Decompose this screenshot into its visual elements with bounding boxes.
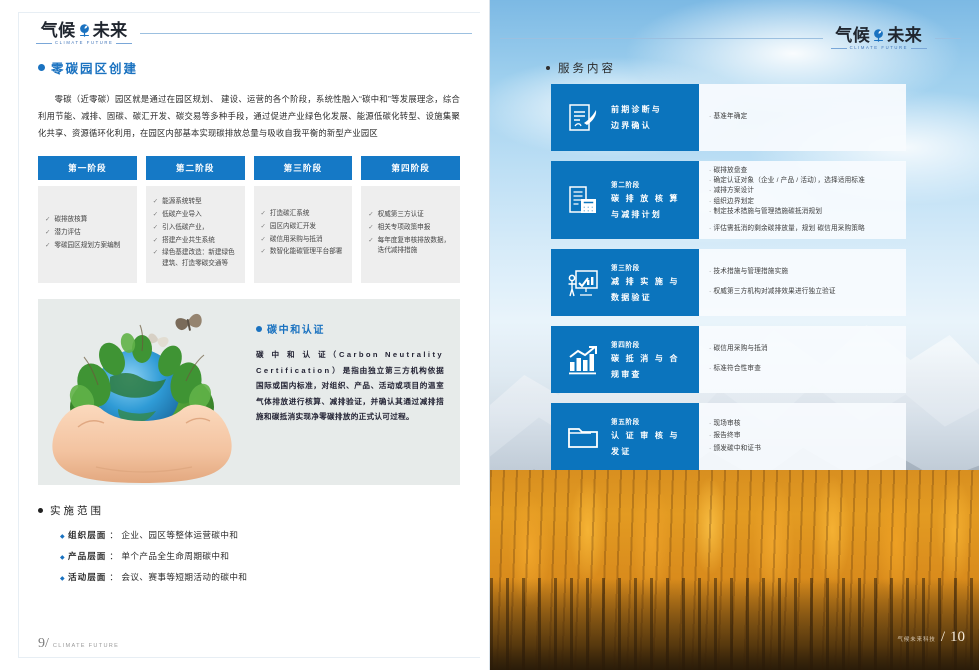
stage-list-item: ✓碳排放核算	[45, 215, 130, 226]
page-number: 9/	[38, 636, 49, 652]
scope-item-text: 会议、赛事等短期活动的碳中和	[121, 571, 247, 583]
scope-item-label: 组织层面	[68, 529, 106, 541]
service-row-labels: 第二阶段 碳 排 放 核 算 与减排计划	[611, 179, 680, 221]
footer-separator: /	[941, 629, 945, 646]
bullet-dot-icon	[38, 64, 45, 71]
stage-item-text: 相关专项政策申报	[378, 223, 453, 234]
service-row: 前期诊断与 边界确认 基准年确定	[551, 84, 906, 151]
scope-item-text: 企业、园区等整体运营碳中和	[121, 529, 238, 541]
stage-item-text: 权威第三方认证	[378, 210, 453, 221]
service-row-body: 基准年确定	[699, 84, 906, 151]
stage-header: 第三阶段	[254, 156, 353, 180]
presentation-chart-person-icon	[563, 263, 603, 303]
service-row-header: 第四阶段 碳 抵 消 与 合 规审查	[551, 326, 699, 393]
left-page-header: 气候 未来 CLIMATE FUTURE	[36, 22, 472, 45]
service-item: 减排方案设计	[709, 186, 896, 196]
stage-header: 第一阶段	[38, 156, 137, 180]
footer-label: CLIMATE FUTURE	[53, 643, 119, 649]
service-item: 报告终审	[709, 430, 896, 443]
stage-item-text: 潜力评估	[54, 228, 129, 239]
hands-holding-green-earth-image	[38, 299, 252, 485]
stage-column: 第二阶段 ✓能源系统转型 ✓低碳产业导入 ✓引入低碳产业， ✓搭建产业共生系统 …	[146, 156, 245, 283]
service-row-header: 第二阶段 碳 排 放 核 算 与减排计划	[551, 161, 699, 239]
service-name-line1: 前期诊断与	[611, 104, 662, 116]
service-item: 评估需抵消的剩余碳排放量，规划 碳信用采购策略	[709, 224, 896, 234]
stage-item-text: 引入低碳产业，	[162, 223, 237, 234]
diamond-bullet-icon: ◆	[60, 534, 65, 540]
stage-column: 第一阶段 ✓碳排放核算 ✓潜力评估 ✓零碳园区规划方案编制	[38, 156, 137, 283]
left-page-footer: 9/ CLIMATE FUTURE	[38, 636, 119, 652]
stage-list-item: ✓数智化能碳管理平台部署	[261, 247, 346, 258]
intro-paragraph: 零碳（近零碳）园区就是通过在园区规划、 建设、运营的各个阶段，系统性融入“碳中和…	[38, 91, 460, 142]
stage-list-item: ✓搭建产业共生系统	[153, 236, 238, 247]
brand-logo: 气候 未来 CLIMATE FUTURE	[831, 27, 927, 50]
header-rule	[140, 33, 472, 34]
stage-body: ✓碳排放核算 ✓潜力评估 ✓零碳园区规划方案编制	[38, 186, 137, 283]
brochure-spread: 气候 未来 CLIMATE FUTURE 零碳园区创建 零碳（近零碳）园区就是通…	[0, 0, 979, 670]
scope-item-sep: ：	[109, 571, 118, 583]
stage-list-item: ✓绿色基建改造：新建绿色建筑、打造零碳交通等	[153, 248, 238, 270]
service-row-labels: 第五阶段 认 证 审 核 与 发证	[611, 416, 680, 458]
scope-item-label: 产品层面	[68, 550, 106, 562]
stage-column: 第三阶段 ✓打造碳汇系统 ✓园区内碳汇开发 ✓碳信用采购与抵消 ✓数智化能碳管理…	[254, 156, 353, 283]
service-list: 前期诊断与 边界确认 基准年确定	[551, 84, 906, 480]
service-name-line1: 减 排 实 施 与	[611, 276, 680, 288]
service-row-header: 第三阶段 减 排 实 施 与 数据验证	[551, 249, 699, 316]
stage-body: ✓能源系统转型 ✓低碳产业导入 ✓引入低碳产业， ✓搭建产业共生系统 ✓绿色基建…	[146, 186, 245, 283]
right-page-header: 气候 未来 CLIMATE FUTURE	[500, 27, 961, 50]
header-rule	[500, 38, 823, 39]
brand-logo-cn-part1: 气候	[41, 22, 76, 39]
service-item: 碳排放盘查	[709, 166, 896, 176]
header-rule-end	[935, 38, 961, 39]
service-name-line1: 认 证 审 核 与	[611, 430, 680, 442]
service-name-line1: 碳 抵 消 与 合	[611, 353, 680, 365]
stage-list-item: ✓潜力评估	[45, 228, 130, 239]
section-title-text: 零碳园区创建	[51, 58, 138, 77]
stage-item-text: 碳排放核算	[54, 215, 129, 226]
certification-text-block: 碳中和认证 碳 中 和 认 证（Carbon Neutrality Certif…	[252, 299, 460, 485]
service-row-labels: 第三阶段 减 排 实 施 与 数据验证	[611, 262, 680, 304]
service-name-line2: 规审查	[611, 369, 680, 381]
scope-item-sep: ：	[109, 550, 118, 562]
check-icon: ✓	[153, 223, 158, 234]
check-icon: ✓	[153, 236, 158, 247]
leaf-globe-icon	[871, 28, 886, 43]
stage-header: 第四阶段	[361, 156, 460, 180]
footer-label: 气候未来科技	[897, 635, 935, 643]
list-item: ◆ 产品层面 ： 单个产品全生命周期碳中和	[60, 550, 460, 562]
implementation-scope-section: 实施范围 ◆ 组织层面 ： 企业、园区等整体运营碳中和 ◆ 产品层面 ： 单个产…	[38, 503, 460, 583]
stage-list-item: ✓引入低碳产业，	[153, 223, 238, 234]
page-title-text: 服务内容	[558, 60, 616, 76]
service-item: 制定技术措施与管理措施碳抵消规划	[709, 207, 896, 217]
leaf-globe-icon	[77, 23, 92, 38]
stage-item-text: 碳信用采购与抵消	[270, 235, 345, 246]
stage-body: ✓打造碳汇系统 ✓园区内碳汇开发 ✓碳信用采购与抵消 ✓数智化能碳管理平台部署	[254, 186, 353, 283]
scope-item-text: 单个产品全生命周期碳中和	[121, 550, 229, 562]
page-title: 服务内容	[546, 60, 616, 76]
stage-list-item: ✓打造碳汇系统	[261, 209, 346, 220]
check-icon: ✓	[153, 197, 158, 208]
bullet-dot-icon	[38, 508, 43, 513]
stage-body: ✓权威第三方认证 ✓相关专项政策申报 ✓每年度复审核排放数据，迭代减排措施	[361, 186, 460, 283]
brand-logo-en: CLIMATE FUTURE	[36, 41, 132, 45]
service-row-body: 技术措施与管理措施实施 权威第三方机构对减排效果进行独立验证	[699, 249, 906, 316]
service-item: 技术措施与管理措施实施	[709, 266, 896, 279]
brand-logo-cn-part2: 未来	[93, 22, 128, 39]
service-row-body: 碳排放盘查 确定认证对象（企业 / 产品 / 活动），选择适用标准 减排方案设计…	[699, 161, 906, 239]
stage-columns: 第一阶段 ✓碳排放核算 ✓潜力评估 ✓零碳园区规划方案编制 第二阶段 ✓能源系统…	[38, 156, 460, 283]
stage-header: 第二阶段	[146, 156, 245, 180]
brand-logo: 气候 未来 CLIMATE FUTURE	[36, 22, 132, 45]
certification-title: 碳中和认证	[256, 321, 444, 336]
document-pen-icon	[563, 98, 603, 138]
service-item: 确定认证对象（企业 / 产品 / 活动），选择适用标准	[709, 176, 896, 186]
stage-item-text: 能源系统转型	[162, 197, 237, 208]
check-icon: ✓	[368, 223, 373, 234]
service-row-labels: 前期诊断与 边界确认	[611, 104, 662, 132]
service-row-labels: 第四阶段 碳 抵 消 与 合 规审查	[611, 339, 680, 381]
check-icon: ✓	[45, 228, 50, 239]
service-stage-label: 第三阶段	[611, 262, 680, 272]
scope-title: 实施范围	[38, 503, 460, 518]
list-item: ◆ 组织层面 ： 企业、园区等整体运营碳中和	[60, 529, 460, 541]
certification-paragraph: 碳 中 和 认 证（Carbon Neutrality Certificatio…	[256, 347, 444, 425]
stage-list-item: ✓相关专项政策申报	[368, 223, 453, 234]
stage-list-item: ✓能源系统转型	[153, 197, 238, 208]
stage-item-text: 园区内碳汇开发	[270, 222, 345, 233]
stage-list-item: ✓权威第三方认证	[368, 210, 453, 221]
check-icon: ✓	[261, 247, 266, 258]
service-row-header: 第五阶段 认 证 审 核 与 发证	[551, 403, 699, 470]
service-row-body: 碳信用采购与抵消 标准符合性审查	[699, 326, 906, 393]
brand-logo-cn: 气候 未来	[41, 22, 128, 39]
service-item: 标准符合性审查	[709, 363, 896, 376]
service-name-line2: 发证	[611, 446, 680, 458]
diamond-bullet-icon: ◆	[60, 576, 65, 582]
scope-list: ◆ 组织层面 ： 企业、园区等整体运营碳中和 ◆ 产品层面 ： 单个产品全生命周…	[38, 529, 460, 583]
left-page: 气候 未来 CLIMATE FUTURE 零碳园区创建 零碳（近零碳）园区就是通…	[0, 0, 490, 670]
service-item: 现场审核	[709, 418, 896, 431]
service-row: 第四阶段 碳 抵 消 与 合 规审查 碳信用采购与抵消 标准符合性审查	[551, 326, 906, 393]
carbon-neutrality-certification-panel: 碳中和认证 碳 中 和 认 证（Carbon Neutrality Certif…	[38, 299, 460, 485]
right-page-footer: 气候未来科技 / 10	[897, 629, 965, 646]
stage-item-text: 零碳园区规划方案编制	[54, 241, 129, 252]
stage-item-text: 数智化能碳管理平台部署	[270, 247, 345, 258]
service-item: 基准年确定	[709, 111, 896, 124]
stage-list-item: ✓每年度复审核排放数据，迭代减排措施	[368, 236, 453, 258]
service-item: 组织边界划定	[709, 197, 896, 207]
service-item: 颁发碳中和证书	[709, 443, 896, 456]
stage-list-item: ✓零碳园区规划方案编制	[45, 241, 130, 252]
stage-item-text: 搭建产业共生系统	[162, 236, 237, 247]
service-row: 第二阶段 碳 排 放 核 算 与减排计划 碳排放盘查 确定认证对象（企业 / 产…	[551, 161, 906, 239]
growth-bar-chart-icon	[563, 340, 603, 380]
stage-item-text: 绿色基建改造：新建绿色建筑、打造零碳交通等	[162, 248, 237, 270]
brand-logo-en: CLIMATE FUTURE	[831, 46, 927, 50]
service-name-line1: 碳 排 放 核 算	[611, 193, 680, 205]
check-icon: ✓	[368, 210, 373, 221]
service-name-line2: 与减排计划	[611, 209, 680, 221]
stage-list-item: ✓碳信用采购与抵消	[261, 235, 346, 246]
scope-title-text: 实施范围	[50, 503, 104, 518]
service-stage-label: 第二阶段	[611, 179, 680, 189]
section-title-zero-carbon-park: 零碳园区创建	[38, 58, 460, 77]
check-icon: ✓	[261, 235, 266, 246]
brand-logo-cn-part1: 气候	[835, 27, 870, 44]
check-icon: ✓	[261, 209, 266, 220]
check-icon: ✓	[153, 210, 158, 221]
service-name-line2: 边界确认	[611, 120, 662, 132]
diamond-bullet-icon: ◆	[60, 555, 65, 561]
forest-shadow-layer	[490, 578, 979, 670]
check-icon: ✓	[368, 236, 373, 258]
stage-list-item: ✓园区内碳汇开发	[261, 222, 346, 233]
service-row: 第五阶段 认 证 审 核 与 发证 现场审核 报告终审 颁发碳中和证书	[551, 403, 906, 470]
brand-logo-cn-part2: 未来	[887, 27, 922, 44]
check-icon: ✓	[261, 222, 266, 233]
check-icon: ✓	[45, 215, 50, 226]
bullet-dot-icon	[546, 66, 550, 70]
stage-item-text: 打造碳汇系统	[270, 209, 345, 220]
service-row-body: 现场审核 报告终审 颁发碳中和证书	[699, 403, 906, 470]
list-item: ◆ 活动层面 ： 会议、赛事等短期活动的碳中和	[60, 571, 460, 583]
service-row: 第三阶段 减 排 实 施 与 数据验证 技术措施与管理措施实施 权威第三方机构对…	[551, 249, 906, 316]
stage-column: 第四阶段 ✓权威第三方认证 ✓相关专项政策申报 ✓每年度复审核排放数据，迭代减排…	[361, 156, 460, 283]
certification-title-text: 碳中和认证	[267, 321, 325, 336]
brand-logo-cn: 气候 未来	[835, 27, 922, 44]
page-number: 10	[950, 629, 965, 646]
stage-list-item: ✓低碳产业导入	[153, 210, 238, 221]
check-icon: ✓	[153, 248, 158, 270]
folder-icon	[563, 417, 603, 457]
stage-item-text: 低碳产业导入	[162, 210, 237, 221]
service-row-header: 前期诊断与 边界确认	[551, 84, 699, 151]
stage-item-text: 每年度复审核排放数据，迭代减排措施	[378, 236, 453, 258]
service-item: 权威第三方机构对减排效果进行独立验证	[709, 286, 896, 299]
ledger-calculator-icon	[563, 180, 603, 220]
service-item: 碳信用采购与抵消	[709, 343, 896, 356]
service-name-line2: 数据验证	[611, 292, 680, 304]
service-stage-label: 第四阶段	[611, 339, 680, 349]
left-page-body: 零碳园区创建 零碳（近零碳）园区就是通过在园区规划、 建设、运营的各个阶段，系统…	[38, 58, 460, 592]
service-stage-label: 第五阶段	[611, 416, 680, 426]
scope-item-sep: ：	[109, 529, 118, 541]
check-icon: ✓	[45, 241, 50, 252]
bullet-dot-icon	[256, 326, 262, 332]
right-page: 气候 未来 CLIMATE FUTURE 服务内容	[490, 0, 979, 670]
scope-item-label: 活动层面	[68, 571, 106, 583]
